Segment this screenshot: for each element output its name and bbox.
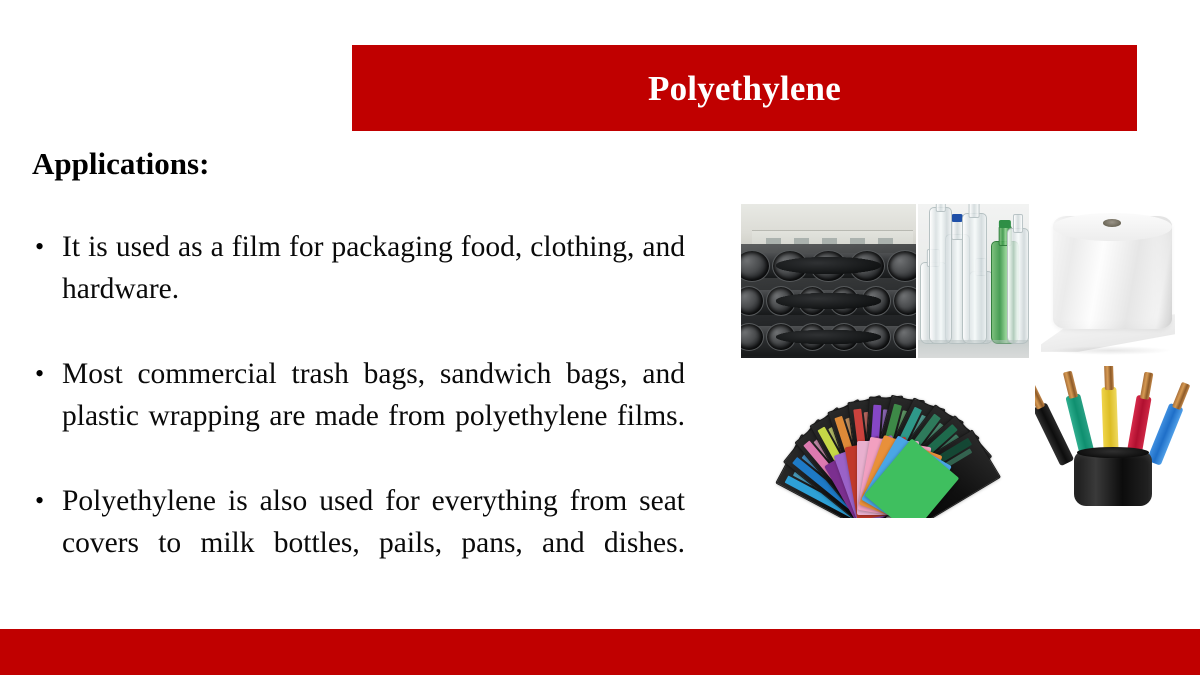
applications-bullet-list: It is used as a film for packaging food,… (30, 226, 685, 607)
page-title: Polyethylene (648, 71, 841, 106)
hdpe-pipes-photo (741, 204, 916, 358)
pipe-row (741, 324, 916, 350)
list-item: Polyethylene is also used for everything… (30, 480, 685, 606)
cable-wire-blue (1146, 403, 1183, 466)
title-banner: Polyethylene (352, 45, 1137, 131)
bottles-floor-reflection (918, 340, 1029, 358)
pipe-row (741, 251, 916, 281)
image-collage (741, 204, 1191, 520)
bullet-text-1: It is used as a film for packaging food,… (62, 231, 685, 305)
electrical-cable-photo (1035, 366, 1191, 518)
footer-accent-bar (0, 629, 1200, 675)
list-item: It is used as a film for packaging food,… (30, 226, 685, 352)
roll-core-hole (1103, 219, 1121, 227)
plastic-bottle (1007, 228, 1029, 344)
roll-shadow (1050, 346, 1172, 355)
bullet-text-3: Polyethylene is also used for everything… (62, 485, 685, 559)
pipe-row (741, 287, 916, 315)
bubble-wrap-roll-photo (1031, 204, 1191, 358)
plastic-bottle (929, 207, 952, 345)
bottle-cap-green (999, 220, 1011, 228)
plastic-bottle (962, 213, 986, 344)
bullet-text-2: Most commercial trash bags, sandwich bag… (62, 358, 685, 432)
bottle-cap-blue (952, 214, 963, 223)
plastic-bottles-photo (918, 204, 1029, 358)
applications-heading: Applications: (32, 145, 209, 184)
list-item: Most commercial trash bags, sandwich bag… (30, 353, 685, 479)
cable-sheath (1074, 451, 1152, 506)
plastic-bags-fan-photo (743, 366, 1033, 518)
pipes-stack (741, 244, 916, 358)
slide-canvas: Polyethylene Applications: It is used as… (0, 0, 1200, 675)
roll-top-face (1053, 213, 1171, 241)
